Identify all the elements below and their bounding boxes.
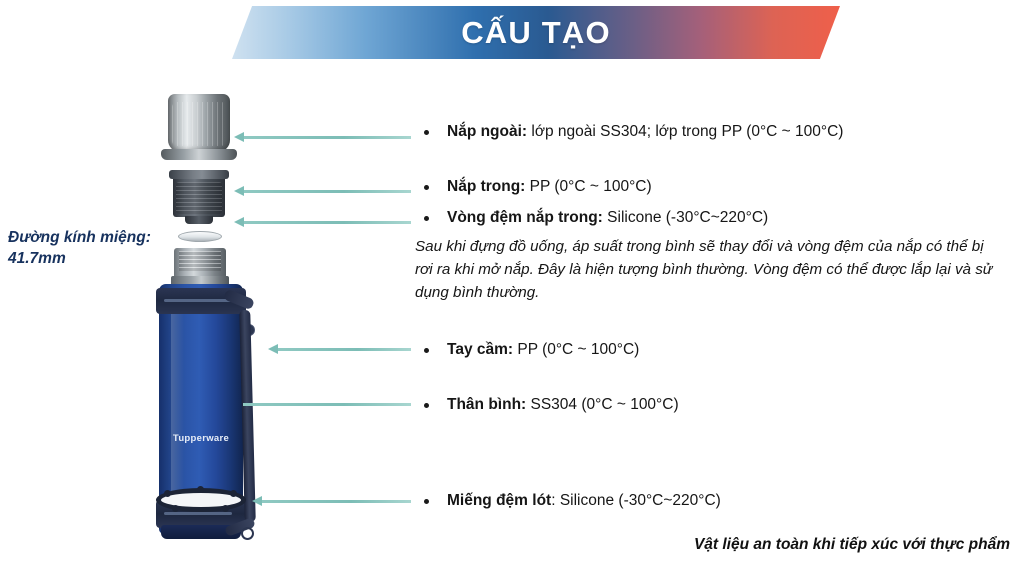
inner-cap-gasket-part	[178, 231, 222, 242]
bullet-label: Vòng đệm nắp trong:	[447, 209, 603, 226]
bullet-inner-cap: Nắp trong: PP (0°C ~ 100°C)	[424, 177, 652, 197]
base-gasket-part	[156, 488, 246, 514]
bullet-handle: Tay cầm: PP (0°C ~ 100°C)	[424, 340, 639, 360]
bullet-outer-cap: Nắp ngoài: lớp ngoài SS304; lớp trong PP…	[424, 122, 843, 142]
bullet-base-gasket: Miếng đệm lót: Silicone (-30°C~220°C)	[424, 491, 721, 511]
pointer-arrow-outer-cap	[243, 136, 411, 139]
bullet-dot	[424, 348, 429, 353]
bullet-label: Miếng đệm lót	[447, 492, 551, 509]
base-gasket-nub	[222, 505, 229, 512]
pointer-arrow-gasket	[243, 221, 411, 224]
outer-cap-part	[168, 94, 230, 152]
bottle-neck-part	[174, 248, 226, 286]
gasket-note-paragraph: Sau khi đựng đồ uống, áp suất trong bình…	[415, 236, 1005, 304]
page-title: CẤU TẠO	[461, 15, 611, 51]
bottle-neck-threads	[179, 251, 221, 271]
pointer-arrow-handle	[277, 348, 411, 351]
bullet-dot	[424, 403, 429, 408]
bullet-label: Nắp trong:	[447, 178, 525, 195]
pointer-arrow-inner-cap	[243, 190, 411, 193]
pointer-arrow-base-gasket	[261, 500, 411, 503]
bullet-value: PP (0°C ~ 100°C)	[513, 341, 639, 358]
bullet-label: Nắp ngoài:	[447, 123, 527, 140]
bullet-value: PP (0°C ~ 100°C)	[525, 178, 651, 195]
handle-clip	[241, 527, 254, 540]
bullet-value: lớp ngoài SS304; lớp trong PP (0°C ~ 100…	[527, 123, 843, 140]
bullet-inner-cap-gasket: Vòng đệm nắp trong: Silicone (-30°C~220°…	[424, 208, 768, 228]
bullet-dot	[424, 130, 429, 135]
inner-cap-part	[173, 175, 225, 217]
header-banner: CẤU TẠO	[232, 6, 840, 59]
bullet-value: : Silicone (-30°C~220°C)	[551, 492, 721, 509]
food-safe-footer-note: Vật liệu an toàn khi tiếp xúc với thực p…	[415, 536, 1010, 554]
inner-cap-threads	[176, 182, 222, 214]
body-highlight	[171, 299, 184, 519]
bullet-body: Thân bình: SS304 (0°C ~ 100°C)	[424, 395, 679, 415]
bullet-value: SS304 (0°C ~ 100°C)	[526, 396, 678, 413]
base-gasket-nub	[197, 486, 204, 493]
bullet-label: Thân bình:	[447, 396, 526, 413]
bullet-dot	[424, 499, 429, 504]
bullet-dot	[424, 185, 429, 190]
outer-cap-ridges	[172, 102, 226, 146]
base-gasket-nub	[230, 490, 237, 497]
pointer-arrow-body	[243, 403, 411, 406]
base-gasket-nub	[164, 490, 171, 497]
bullet-value: Silicone (-30°C~220°C)	[603, 209, 768, 226]
bullet-dot	[424, 216, 429, 221]
base-gasket-nub	[172, 505, 179, 512]
product-exploded-view: Tupperware	[130, 88, 290, 536]
infographic-page: CẤU TẠO Đường kính miệng: 41.7mm Tupperw…	[0, 0, 1021, 575]
bullet-label: Tay cầm:	[447, 341, 513, 358]
